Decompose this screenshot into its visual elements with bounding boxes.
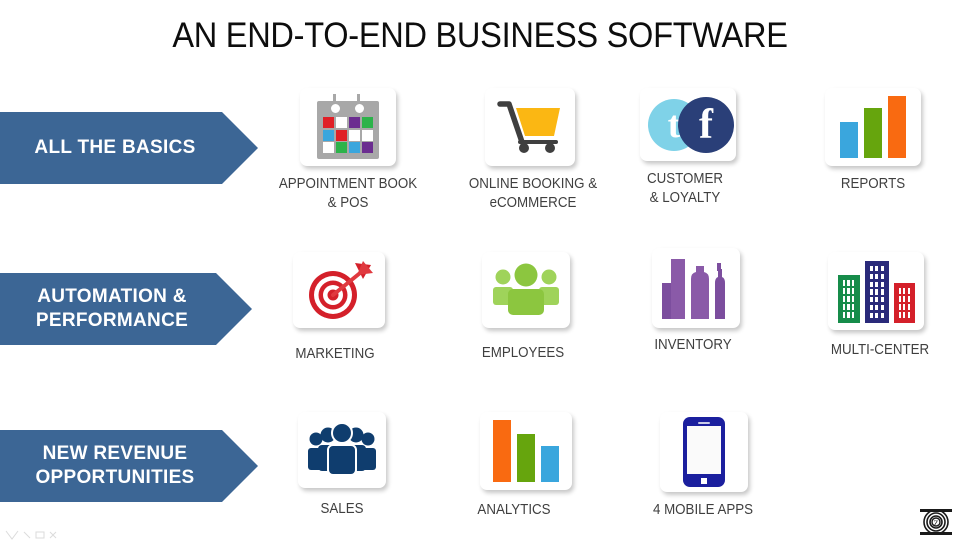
- window: [875, 313, 878, 318]
- calendar-cell-1-0: [323, 130, 334, 141]
- window: [870, 305, 873, 310]
- page-title: AN END-TO-END BUSINESS SOFTWARE: [34, 16, 927, 56]
- window: [852, 288, 854, 294]
- window: [881, 289, 884, 294]
- calendar-cell-0-0: [323, 117, 334, 128]
- window: [908, 304, 910, 310]
- window: [881, 305, 884, 310]
- window: [843, 304, 845, 310]
- bar-3: [888, 96, 906, 158]
- calendar-cell-2-3: [362, 142, 373, 153]
- window: [899, 296, 901, 302]
- building-windows: [870, 266, 884, 318]
- bottom-left-marks: [4, 528, 68, 540]
- window: [870, 297, 873, 302]
- social-twitter-facebook-icon: t f: [640, 88, 736, 161]
- calendar-cell-0-1: [336, 117, 347, 128]
- card-mobile-apps[interactable]: [660, 412, 748, 492]
- target-dart-icon: [293, 252, 385, 328]
- bar-group: [840, 96, 906, 158]
- window: [852, 280, 854, 286]
- bar-1: [840, 122, 858, 158]
- phone-home-button: [701, 478, 707, 484]
- card-online-booking[interactable]: [485, 88, 575, 166]
- window: [903, 304, 905, 310]
- caption-analytics: ANALYTICS: [431, 501, 597, 520]
- people-group-green-icon: [482, 252, 570, 328]
- window: [875, 282, 878, 287]
- window: [847, 280, 849, 286]
- window: [881, 274, 884, 279]
- phone-screen: [687, 426, 721, 474]
- window: [852, 296, 854, 302]
- calendar-dot-left: [330, 103, 341, 114]
- window: [903, 288, 905, 294]
- phone-speaker: [698, 422, 710, 425]
- calendar-body: [317, 101, 379, 159]
- window: [908, 296, 910, 302]
- card-analytics[interactable]: [480, 412, 572, 490]
- window: [870, 313, 873, 318]
- window: [899, 304, 901, 310]
- caption-marketing: MARKETING: [252, 345, 418, 364]
- svg-text:Z: Z: [934, 519, 939, 528]
- window: [843, 288, 845, 294]
- banner-all-the-basics[interactable]: ALL THE BASICS: [0, 112, 258, 184]
- window: [899, 288, 901, 294]
- card-reports[interactable]: [825, 88, 921, 166]
- spiral-z-logo: Z: [918, 507, 954, 537]
- window: [843, 296, 845, 302]
- bar-2: [517, 434, 535, 482]
- bar-chart-descending-icon: [480, 412, 572, 490]
- building-2: [865, 261, 889, 323]
- bar-group: [493, 420, 559, 482]
- window: [847, 312, 849, 318]
- calendar-dot-right: [354, 103, 365, 114]
- people-group-navy-icon: [298, 412, 386, 488]
- calendar-cell-2-0: [323, 142, 334, 153]
- window: [843, 312, 845, 318]
- window: [870, 289, 873, 294]
- window: [847, 304, 849, 310]
- calendar-cell-1-3: [362, 130, 373, 141]
- shopping-cart-icon: [485, 88, 575, 166]
- calendar-cell-0-2: [349, 117, 360, 128]
- building-windows: [843, 280, 855, 318]
- window: [870, 274, 873, 279]
- window: [908, 288, 910, 294]
- window: [875, 297, 878, 302]
- card-employees[interactable]: [482, 252, 570, 328]
- window: [843, 280, 845, 286]
- card-inventory[interactable]: [652, 248, 740, 328]
- calendar-icon: [300, 88, 396, 166]
- window: [847, 296, 849, 302]
- window: [908, 312, 910, 318]
- window: [875, 266, 878, 271]
- calendar-cell-1-1: [336, 130, 347, 141]
- window: [852, 312, 854, 318]
- window: [881, 282, 884, 287]
- caption-online-booking: ONLINE BOOKING & eCOMMERCE: [450, 175, 616, 213]
- window: [847, 288, 849, 294]
- building-1: [838, 275, 860, 323]
- banner-automation-performance[interactable]: AUTOMATION & PERFORMANCE: [0, 273, 252, 345]
- window: [903, 312, 905, 318]
- card-appointment-book[interactable]: [300, 88, 396, 166]
- window: [852, 304, 854, 310]
- window: [870, 282, 873, 287]
- facebook-icon: f: [678, 97, 734, 153]
- card-sales[interactable]: [298, 412, 386, 488]
- window: [875, 305, 878, 310]
- building-group: [838, 259, 915, 323]
- window: [875, 274, 878, 279]
- bar-2: [864, 108, 882, 158]
- card-marketing[interactable]: [293, 252, 385, 328]
- card-multi-center[interactable]: [828, 252, 924, 330]
- window: [899, 312, 901, 318]
- caption-multi-center: MULTI-CENTER: [797, 341, 960, 360]
- window: [870, 266, 873, 271]
- bottles-icon: [652, 248, 740, 328]
- calendar-grid: [323, 117, 373, 153]
- banner-label: ALL THE BASICS: [34, 136, 195, 160]
- smartphone-icon: [660, 412, 748, 492]
- window: [903, 296, 905, 302]
- caption-inventory: INVENTORY: [610, 336, 776, 355]
- banner-label: NEW REVENUE OPPORTUNITIES: [35, 442, 194, 490]
- banner-label: AUTOMATION & PERFORMANCE: [36, 285, 188, 333]
- card-customer-loyalty[interactable]: t f: [640, 88, 736, 161]
- window: [881, 313, 884, 318]
- banner-new-revenue-opportunities[interactable]: NEW REVENUE OPPORTUNITIES: [0, 430, 258, 502]
- calendar-cell-0-3: [362, 117, 373, 128]
- caption-appointment-book: APPOINTMENT BOOK & POS: [265, 175, 431, 213]
- bar-3: [541, 446, 559, 482]
- caption-employees: EMPLOYEES: [440, 344, 606, 363]
- caption-customer-loyalty: CUSTOMER & LOYALTY: [602, 170, 768, 208]
- calendar-cell-2-1: [336, 142, 347, 153]
- window: [875, 289, 878, 294]
- window: [881, 266, 884, 271]
- calendar-cell-1-2: [349, 130, 360, 141]
- buildings-icon: [828, 252, 924, 330]
- bar-chart-ascending-icon: [825, 88, 921, 166]
- caption-sales: SALES: [259, 500, 425, 519]
- calendar-cell-2-2: [349, 142, 360, 153]
- window: [881, 297, 884, 302]
- facebook-glyph: f: [699, 101, 713, 149]
- caption-mobile-apps: 4 MOBILE APPS: [620, 501, 786, 520]
- bar-1: [493, 420, 511, 482]
- building-windows: [899, 288, 910, 318]
- building-3: [894, 283, 915, 323]
- caption-reports: REPORTS: [790, 175, 956, 194]
